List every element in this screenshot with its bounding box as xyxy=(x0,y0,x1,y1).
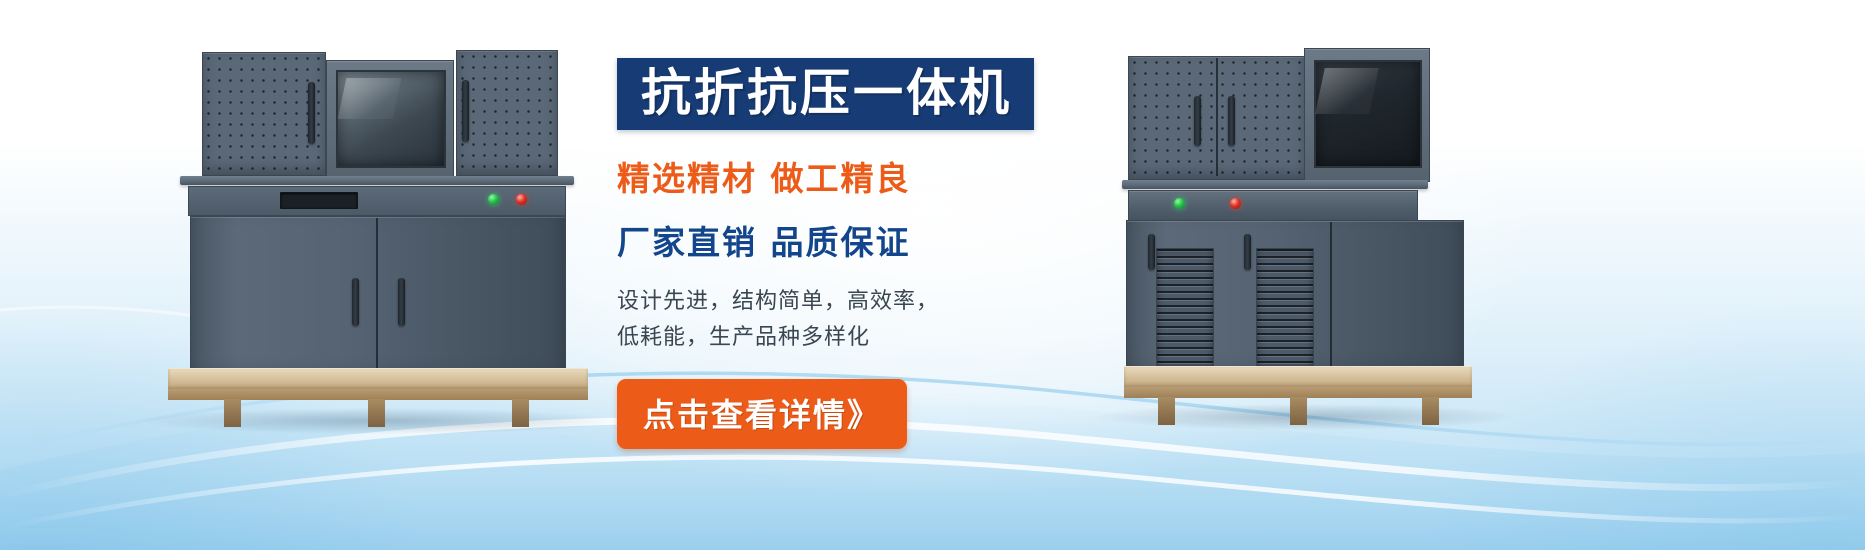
cabinet-right-handle xyxy=(398,278,405,326)
promo-banner: 抗折抗压一体机 精选精材 做工精良 厂家直销 品质保证 设计先进，结构简单，高效… xyxy=(0,0,1865,550)
display-screen xyxy=(1314,60,1422,168)
description-line-1: 设计先进，结构简单，高效率， xyxy=(617,284,1257,320)
pallet-leg xyxy=(1422,397,1439,425)
control-readout xyxy=(280,192,358,209)
lower-cabinet xyxy=(190,216,566,386)
view-details-label: 点击查看详情》 xyxy=(643,396,881,434)
cabinet-left-handle xyxy=(352,278,359,326)
display-screen xyxy=(336,70,446,168)
upper-left-door-handle xyxy=(308,82,315,144)
page-title: 抗折抗压一体机 xyxy=(641,68,1012,118)
wooden-pallet xyxy=(168,368,588,428)
pallet-top-board xyxy=(168,368,588,389)
pallet-leg xyxy=(512,399,529,427)
banner-copy: 抗折抗压一体机 精选精材 做工精良 厂家直销 品质保证 设计先进，结构简单，高效… xyxy=(617,58,1257,449)
pallet-leg xyxy=(1290,397,1307,425)
power-indicator-green xyxy=(488,194,499,205)
view-details-button[interactable]: 点击查看详情》 xyxy=(617,379,907,449)
headline-blue: 厂家直销 品质保证 xyxy=(617,216,1257,264)
headline-orange: 精选精材 做工精良 xyxy=(617,152,1257,200)
control-panel-strip xyxy=(188,186,566,216)
upper-right-door-handle xyxy=(462,80,469,142)
description-line-2: 低耗能，生产品种多样化 xyxy=(617,320,1257,356)
pallet-leg xyxy=(224,399,241,427)
product-photo-left xyxy=(168,46,588,428)
upper-right-perforated-door xyxy=(456,50,558,176)
cabinet-door-seam xyxy=(1330,222,1332,378)
ventilation-louver-right xyxy=(1256,248,1314,368)
display-glare xyxy=(1315,68,1379,114)
alarm-indicator-red xyxy=(516,194,527,205)
title-bar: 抗折抗压一体机 xyxy=(617,58,1034,130)
mid-ledge xyxy=(180,176,574,185)
cabinet-door-seam xyxy=(376,218,378,382)
display-glare xyxy=(338,78,402,119)
pallet-leg xyxy=(368,399,385,427)
description-block: 设计先进，结构简单，高效率， 低耗能，生产品种多样化 xyxy=(617,284,1257,357)
